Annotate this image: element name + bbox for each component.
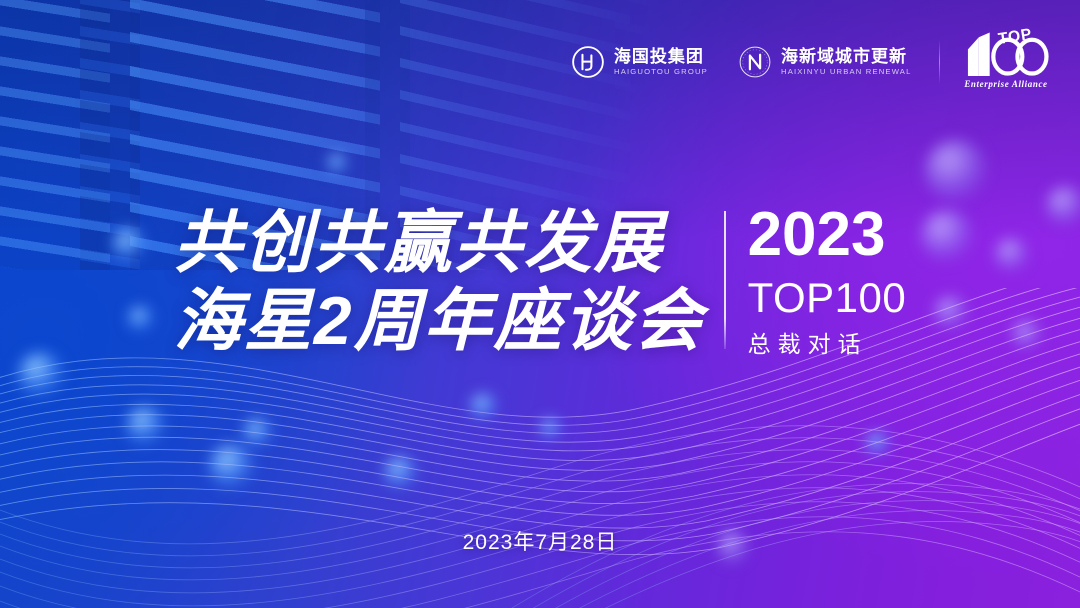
headline-year: 2023	[748, 205, 886, 266]
logo-haiguotou-en: HAIGUOTOU GROUP	[614, 67, 708, 77]
bokeh-sphere	[327, 153, 349, 175]
logo-haiguotou-cn: 海国投集团	[614, 47, 706, 67]
logo-haiguotou-text: 海国投集团 HAIGUOTOU GROUP	[614, 47, 706, 76]
sponsor-logo-bar: 海国投集团 HAIGUOTOU GROUP 海新域城市更新 HAIXINYU U…	[555, 24, 1058, 100]
headline-right-block: 2023 TOP100 总裁对话	[726, 205, 907, 359]
headline-line-1: 共创共赢共发展	[174, 205, 704, 281]
headline-left-lines: 共创共赢共发展 海星2周年座谈会	[174, 205, 724, 359]
logo-haixinyu-en: HAIXINYU URBAN RENEWAL	[781, 67, 912, 77]
headline-subtitle: 总裁对话	[748, 325, 868, 359]
svg-text:TOP: TOP	[997, 26, 1033, 48]
haiguotou-monogram-icon	[571, 45, 605, 79]
logo-haixinyu-urban-renewal[interactable]: 海新域城市更新 HAIXINYU URBAN RENEWAL	[722, 45, 925, 79]
event-date: 2023年7月28日	[0, 526, 1080, 556]
logo-divider	[939, 40, 940, 84]
logo-haixinyu-cn: 海新域城市更新	[781, 47, 909, 67]
bokeh-sphere	[925, 140, 987, 202]
logo-haixinyu-text: 海新域城市更新 HAIXINYU URBAN RENEWAL	[781, 47, 909, 76]
top100-subtitle: Enterprise Alliance	[964, 79, 1047, 89]
headline-line-2: 海星2周年座谈会	[174, 283, 704, 359]
haixinyu-monogram-icon	[738, 45, 772, 79]
logo-haiguotou-group[interactable]: 海国投集团 HAIGUOTOU GROUP	[555, 45, 722, 79]
event-poster: 海国投集团 HAIGUOTOU GROUP 海新域城市更新 HAIXINYU U…	[0, 0, 1080, 608]
headline-block: 共创共赢共发展 海星2周年座谈会 2023 TOP100 总裁对话	[0, 205, 1080, 359]
top100-enterprise-alliance-badge[interactable]: TOP Enterprise Alliance	[954, 24, 1058, 100]
top100-logo-icon: TOP	[954, 24, 1058, 82]
headline-rank-label: TOP100	[748, 272, 907, 323]
